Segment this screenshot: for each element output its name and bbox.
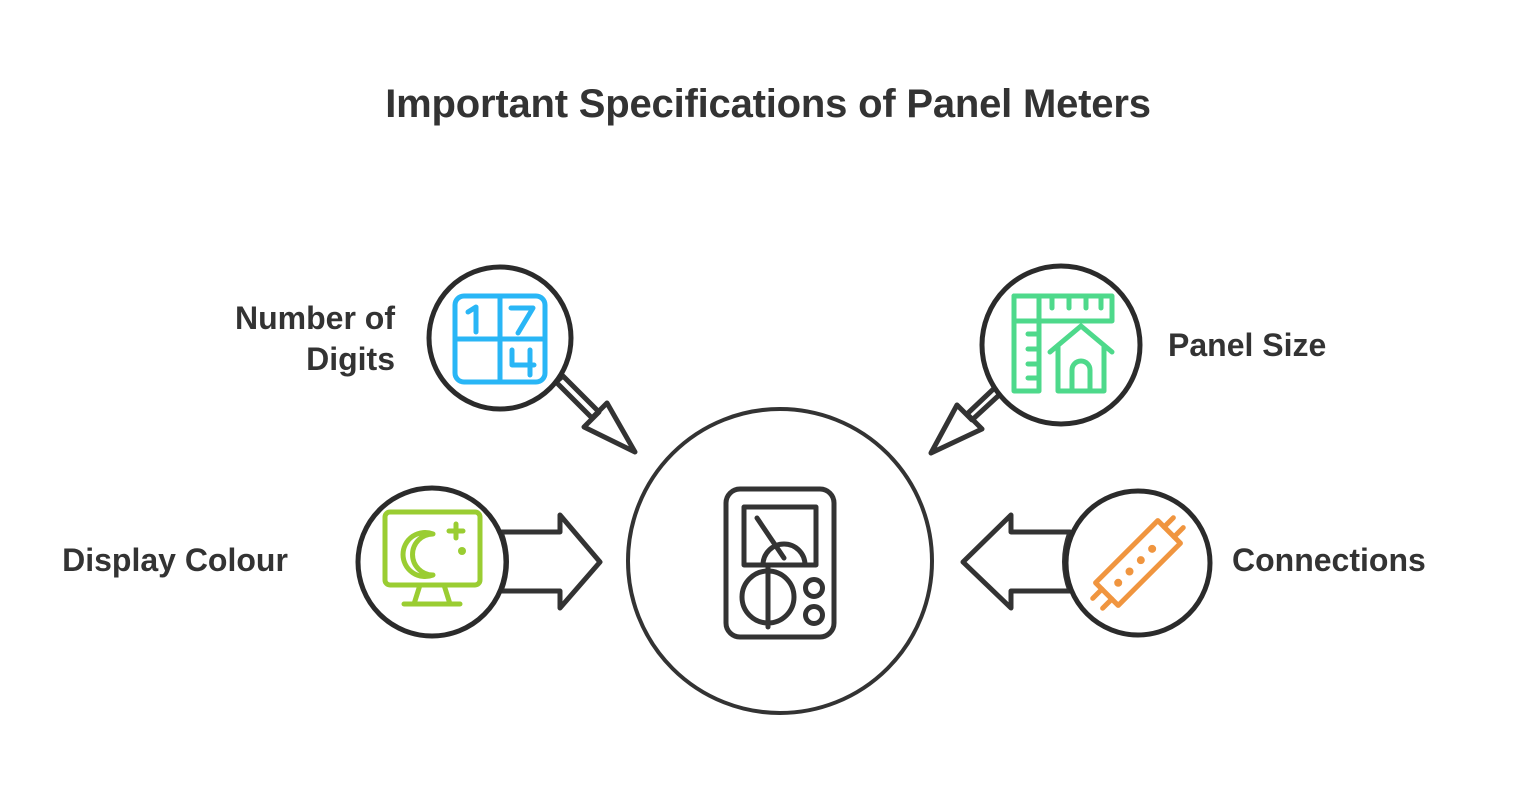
label-number-of-digits: Number of Digits: [90, 298, 395, 380]
center-node[interactable]: [628, 409, 932, 713]
node-panel-size[interactable]: [982, 266, 1140, 424]
arrow-right: [501, 515, 600, 608]
node-display-colour[interactable]: [358, 488, 506, 636]
label-panel-size: Panel Size: [1168, 325, 1498, 366]
label-connections: Connections: [1232, 540, 1512, 581]
label-display-colour: Display Colour: [20, 540, 330, 581]
center-circle: [628, 409, 932, 713]
arrow-down-right: [556, 376, 635, 452]
node-connections[interactable]: [1066, 491, 1210, 635]
node-number-of-digits[interactable]: [429, 267, 571, 409]
infographic-canvas: Important Specifications of Panel Meters: [0, 0, 1536, 790]
diagram-graphics: [0, 0, 1536, 790]
arrow-left: [963, 515, 1070, 608]
